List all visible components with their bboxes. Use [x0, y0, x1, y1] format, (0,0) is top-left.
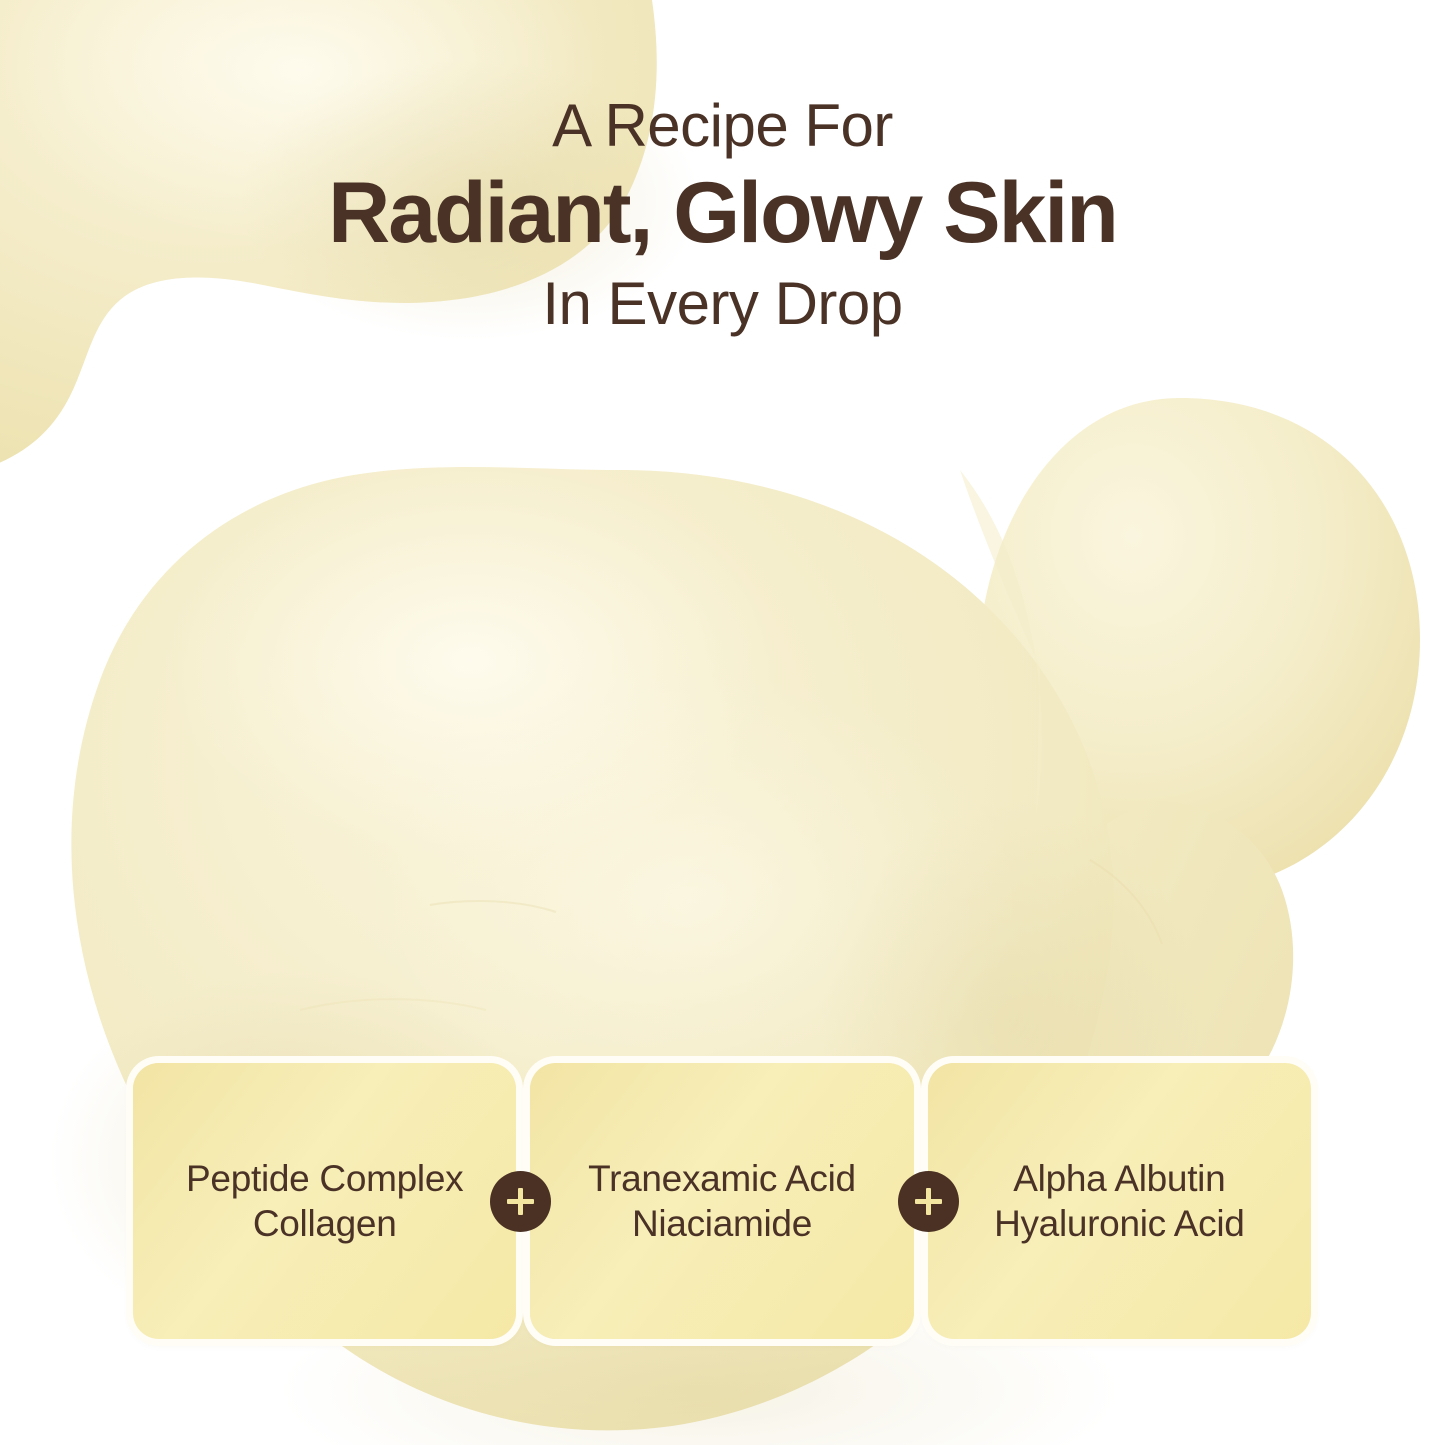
- ingredient-card-1-label: Peptide Complex Collagen: [186, 1156, 463, 1246]
- headline-block: A Recipe For Radiant, Glowy Skin In Ever…: [0, 96, 1445, 334]
- headline-sub: In Every Drop: [0, 274, 1445, 334]
- ingredient-card-3-label: Alpha Albutin Hyaluronic Acid: [994, 1156, 1245, 1246]
- plus-icon-2: [898, 1171, 959, 1232]
- surface-ripple-1: [430, 901, 556, 912]
- ingredient-card-2[interactable]: Tranexamic Acid Niaciamide: [530, 1063, 913, 1339]
- plus-icon-1: [490, 1171, 551, 1232]
- headline-eyebrow: A Recipe For: [0, 96, 1445, 156]
- headline-main: Radiant, Glowy Skin: [0, 170, 1445, 256]
- satellite-bubble-shape: [978, 398, 1420, 891]
- main-droplet-sheen-center: [350, 670, 1030, 1130]
- plus-glyph-1: [507, 1188, 534, 1215]
- surface-ripple-2: [300, 999, 486, 1010]
- main-droplet-sheen-upper: [160, 460, 780, 860]
- plus-glyph-2: [915, 1188, 942, 1215]
- ingredient-card-2-label: Tranexamic Acid Niaciamide: [588, 1156, 856, 1246]
- droplet-seam-notch: [960, 470, 1042, 818]
- surface-ripple-3: [1090, 860, 1162, 944]
- ingredient-card-3[interactable]: Alpha Albutin Hyaluronic Acid: [928, 1063, 1311, 1339]
- marketing-image-canvas: A Recipe For Radiant, Glowy Skin In Ever…: [0, 0, 1445, 1445]
- ingredient-card-row: Peptide Complex Collagen Tranexamic Acid…: [133, 1063, 1311, 1339]
- ingredient-card-1[interactable]: Peptide Complex Collagen: [133, 1063, 516, 1339]
